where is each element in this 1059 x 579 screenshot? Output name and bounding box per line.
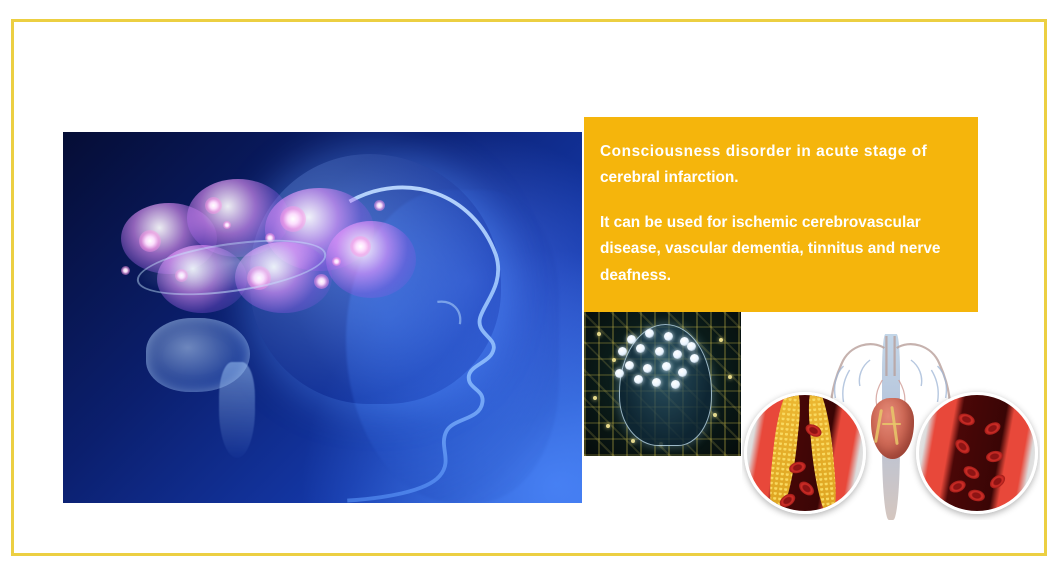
cardiovascular-artery-photo xyxy=(742,330,1040,520)
healthy-artery-inset xyxy=(916,392,1038,514)
neuron-dot-cluster xyxy=(606,326,722,395)
callout-paragraph-2-line-3: deafness. xyxy=(600,263,960,289)
callout-paragraph-2-line-1: It can be used for ischemic cerebrovascu… xyxy=(600,210,960,236)
indication-callout-box: Consciousness disorder in acute stage of… xyxy=(584,117,978,312)
callout-paragraph-gap xyxy=(600,192,960,210)
callout-paragraph-1-line-1: Consciousness disorder in acute stage of xyxy=(600,139,960,165)
brain-stem-shape xyxy=(219,362,255,458)
callout-paragraph-2-line-2: disease, vascular dementia, tinnitus and… xyxy=(600,236,960,262)
callout-paragraph-1-line-2: cerebral infarction. xyxy=(600,165,960,191)
glowing-brain-profile-photo xyxy=(63,132,582,503)
slide-canvas: Consciousness disorder in acute stage of… xyxy=(0,0,1059,579)
blocked-artery-inset xyxy=(744,392,866,514)
circuit-board-brain-photo xyxy=(584,312,741,456)
